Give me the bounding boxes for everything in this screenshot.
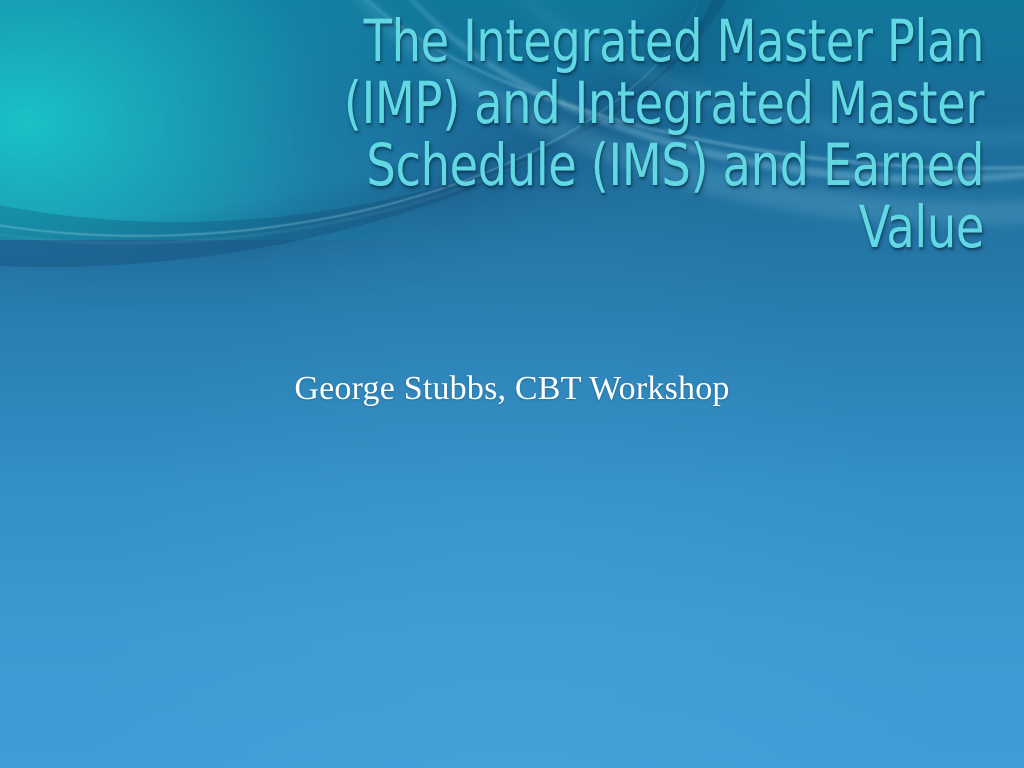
slide-subtitle: George Stubbs, CBT Workshop xyxy=(40,368,984,410)
slide-title-line-2: (IMP) and Integrated Master xyxy=(229,72,984,134)
slide-content: The Integrated Master Plan (IMP) and Int… xyxy=(0,0,1024,768)
slide-title: The Integrated Master Plan (IMP) and Int… xyxy=(40,10,984,258)
slide-title-line-3: Schedule (IMS) and Earned xyxy=(229,134,984,196)
slide-title-line-4: Value xyxy=(229,196,984,258)
title-slide: The Integrated Master Plan (IMP) and Int… xyxy=(0,0,1024,768)
slide-title-line-1: The Integrated Master Plan xyxy=(229,10,984,72)
